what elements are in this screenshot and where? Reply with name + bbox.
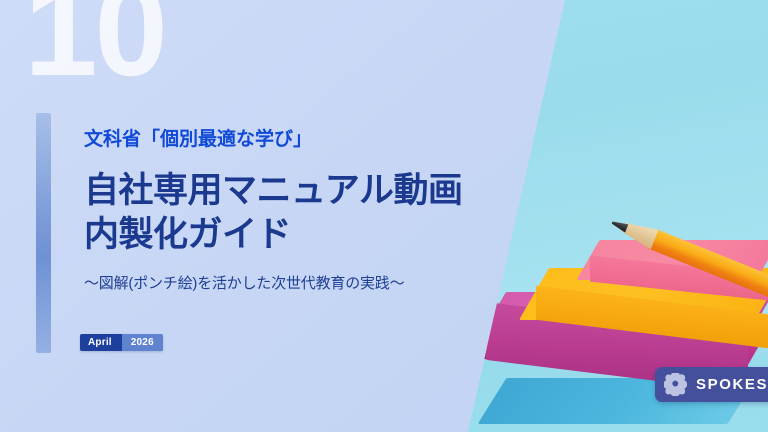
date-badge: April 2026 xyxy=(80,334,163,351)
subtitle-tagline: 〜図解(ポンチ絵)を活かした次世代教育の実践〜 xyxy=(84,272,484,293)
title-line-2: 内製化ガイド xyxy=(84,213,484,258)
spokes-logo-badge: SPOKES xyxy=(655,367,768,402)
title-slide: 10 文科省「個別最適な学び」 自社専用マニュアル動画 内製化ガイド 〜図解(ポ… xyxy=(0,0,768,432)
slide-number-watermark: 10 xyxy=(24,0,165,96)
spokes-logo-text: SPOKES xyxy=(696,376,768,393)
title-line-1: 自社専用マニュアル動画 xyxy=(84,169,484,214)
date-badge-month: April xyxy=(80,334,122,351)
kicker-text: 文科省「個別最適な学び」 xyxy=(84,128,484,153)
spokes-flower-icon xyxy=(664,373,687,396)
title-text-block: 文科省「個別最適な学び」 自社専用マニュアル動画 内製化ガイド 〜図解(ポンチ絵… xyxy=(84,128,484,293)
page-title: 自社専用マニュアル動画 内製化ガイド xyxy=(84,169,484,259)
pencil-graphite-tip xyxy=(610,218,628,232)
date-badge-year: 2026 xyxy=(122,334,163,351)
accent-bar xyxy=(36,113,51,353)
